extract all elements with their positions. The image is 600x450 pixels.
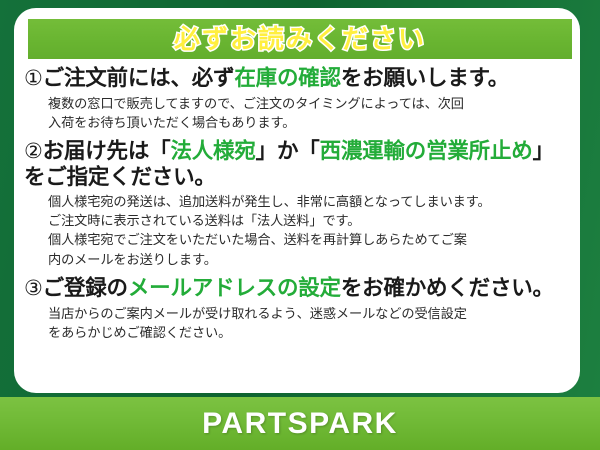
notice-item: ②お届け先は「法人様宛」か「西濃運輸の営業所止め」をご指定ください。個人様宅宛の… — [14, 139, 580, 269]
item-number: ① — [24, 67, 43, 90]
item-body-line: ご注文時に表示されている送料は「法人送料」です。 — [48, 211, 568, 230]
heading-accent-text: 西濃運輸の営業所止め — [320, 139, 533, 163]
item-body: 当店からのご案内メールが受け取れるよう、迷惑メールなどの受信設定をあらかじめご確… — [24, 304, 568, 342]
header-banner: 必ずお読みください — [28, 19, 572, 59]
notice-panel: 必ずお読みください ①ご注文前には、必ず在庫の確認をお願いします。複数の窓口で販… — [14, 8, 580, 393]
heading-text: をお願いします。 — [341, 66, 509, 90]
heading-text: をお確かめください。 — [341, 276, 554, 300]
heading-accent-text: 法人様宛 — [170, 139, 255, 163]
item-heading: ②お届け先は「法人様宛」か「西濃運輸の営業所止め」をご指定ください。 — [24, 139, 568, 190]
heading-text: ご登録の — [43, 276, 128, 300]
heading-text: お届け先は「 — [43, 139, 171, 163]
item-body-line: 個人様宅宛でご注文をいただいた場合、送料を再計算しあらためてご案 — [48, 230, 568, 249]
item-body-line: 複数の窓口で販売してますので、ご注文のタイミングによっては、次回 — [48, 94, 568, 113]
notice-graphic: 必ずお読みください ①ご注文前には、必ず在庫の確認をお願いします。複数の窓口で販… — [0, 0, 600, 450]
heading-text: 」か「 — [256, 139, 320, 163]
item-body: 複数の窓口で販売してますので、ご注文のタイミングによっては、次回入荷をお待ち頂い… — [24, 94, 568, 132]
item-body-line: 内のメールをお送りします。 — [48, 250, 568, 269]
item-body: 個人様宅宛の発送は、追加送料が発生し、非常に高額となってしまいます。ご注文時に表… — [24, 192, 568, 269]
item-body-line: 個人様宅宛の発送は、追加送料が発生し、非常に高額となってしまいます。 — [48, 192, 568, 211]
item-heading: ③ご登録のメールアドレスの設定をお確かめください。 — [24, 276, 568, 302]
notice-items: ①ご注文前には、必ず在庫の確認をお願いします。複数の窓口で販売してますので、ご注… — [14, 66, 580, 342]
header-title: 必ずお読みください — [174, 26, 426, 52]
item-body-line: 入荷をお待ち頂いただく場合もあります。 — [48, 113, 568, 132]
item-heading: ①ご注文前には、必ず在庫の確認をお願いします。 — [24, 66, 568, 92]
item-number: ③ — [24, 277, 43, 300]
heading-text: ご注文前には、必ず — [43, 66, 235, 90]
heading-accent-text: 在庫の確認 — [234, 66, 341, 90]
heading-accent-text: メールアドレスの設定 — [128, 276, 341, 300]
brand-name: PARTSPARK — [202, 407, 398, 441]
item-body-line: をあらかじめご確認ください。 — [48, 323, 568, 342]
notice-item: ③ご登録のメールアドレスの設定をお確かめください。当店からのご案内メールが受け取… — [14, 276, 580, 342]
footer-bar: PARTSPARK — [0, 397, 600, 450]
item-body-line: 当店からのご案内メールが受け取れるよう、迷惑メールなどの受信設定 — [48, 304, 568, 323]
notice-item: ①ご注文前には、必ず在庫の確認をお願いします。複数の窓口で販売してますので、ご注… — [14, 66, 580, 132]
item-number: ② — [24, 140, 43, 163]
